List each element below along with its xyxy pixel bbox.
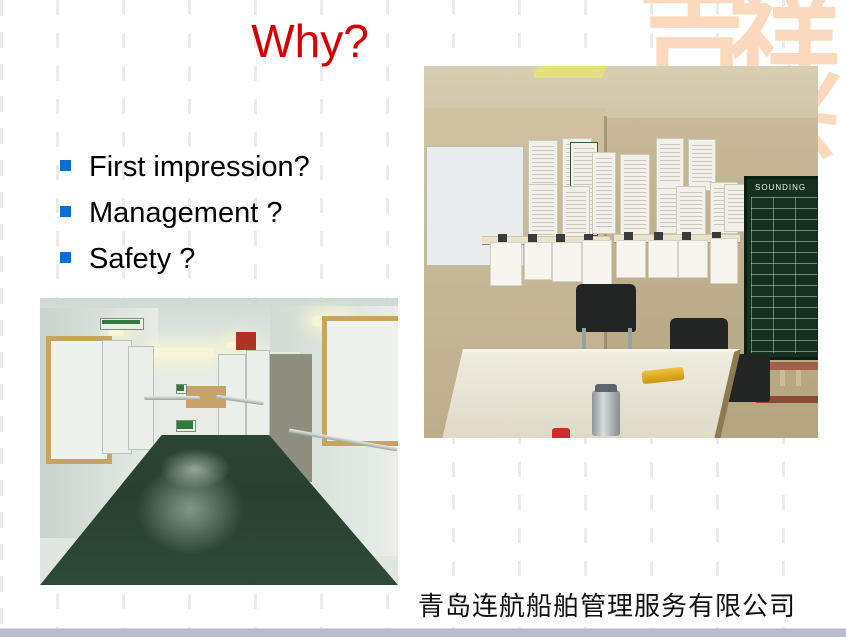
company-name-footer: 青岛连航船舶管理服务有限公司 (418, 586, 796, 623)
square-bullet-icon (60, 206, 71, 217)
slide-bottom-bar (0, 628, 846, 637)
list-item: Safety ? (60, 242, 420, 276)
bullet-label: Management ? (89, 196, 282, 230)
presentation-slide: 吉 祥 兴 Why? First impression? Management … (0, 0, 846, 637)
list-item: First impression? (60, 150, 420, 184)
bullet-label: First impression? (89, 150, 310, 184)
ship-office-meeting-room-photo: SOUNDING (424, 66, 818, 438)
list-item: Management ? (60, 196, 420, 230)
ship-corridor-photo (40, 298, 398, 585)
slide-title: Why? (0, 14, 620, 68)
square-bullet-icon (60, 160, 71, 171)
bullet-list: First impression? Management ? Safety ? (60, 150, 420, 288)
square-bullet-icon (60, 252, 71, 263)
bullet-label: Safety ? (89, 242, 195, 276)
sounding-board-title: SOUNDING (755, 183, 806, 192)
sounding-board: SOUNDING (744, 176, 818, 360)
